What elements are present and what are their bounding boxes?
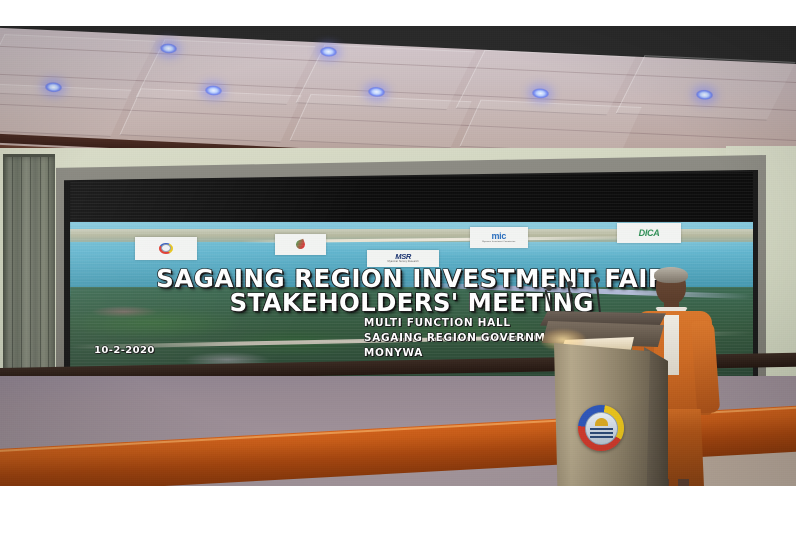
podium-front-panel: [554, 343, 650, 486]
microphone-head-icon: [594, 277, 600, 283]
letterbox-bar-top: [70, 172, 753, 227]
logo-sagaing-region-seal: [135, 237, 196, 260]
logo-myanmar-green-leaf: [275, 234, 326, 255]
ceiling-light-icon: [368, 87, 385, 98]
presenter-hair: [654, 267, 688, 283]
ceiling-light-icon: [160, 43, 177, 54]
microphone-head-icon: [546, 285, 552, 291]
leaf-icon: [295, 239, 307, 251]
event-photograph: MSR Myanmar Survey Research mic Myanmar …: [0, 26, 796, 486]
slide-subline-venue: MULTI FUNCTION HALL: [364, 317, 511, 329]
seal-icon: [159, 243, 173, 254]
ceiling-light-icon: [205, 85, 222, 96]
presenter-leg: [678, 479, 689, 486]
podium-state-seal-icon: [578, 405, 624, 451]
slide-date: 10-2-2020: [94, 345, 155, 356]
podium-state-seal-inner: [585, 412, 618, 445]
ceiling-light-icon: [320, 46, 337, 57]
logo-dica: DICA: [617, 223, 682, 243]
slide-subline-city: MONYWA: [364, 347, 423, 359]
ceiling-light-icon: [696, 89, 713, 100]
photo-white-matte: MSR Myanmar Survey Research mic Myanmar …: [0, 0, 800, 550]
logo-dica-label: DICA: [639, 229, 660, 238]
logo-mic-sublabel: Myanmar Investment Commission: [482, 241, 515, 243]
ceiling-light-icon: [45, 82, 62, 93]
logo-mic: mic Myanmar Investment Commission: [470, 227, 528, 248]
microphone-head-icon: [567, 281, 573, 287]
ceiling-light-icon: [532, 88, 549, 99]
logo-mic-label: mic: [491, 232, 506, 241]
podium[interactable]: [548, 311, 660, 486]
